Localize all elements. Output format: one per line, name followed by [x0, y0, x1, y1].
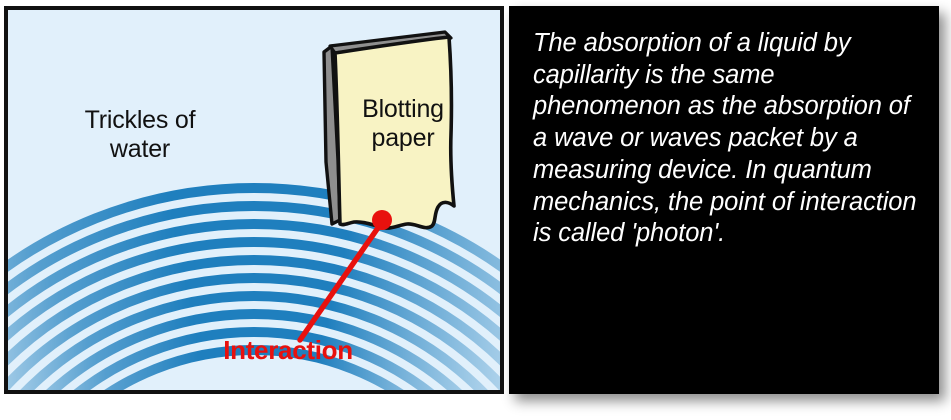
interaction-label: Interaction [193, 335, 383, 365]
figure-root: Trickles of water Blotting paper Interac… [0, 0, 951, 420]
interaction-point-marker [372, 210, 392, 230]
blotting-paper-label: Blotting paper [338, 95, 468, 153]
caption-panel: The absorption of a liquid by capillarit… [509, 6, 939, 394]
caption-text: The absorption of a liquid by capillarit… [533, 28, 917, 250]
illustration-panel: Trickles of water Blotting paper Interac… [4, 6, 504, 394]
illustration-canvas [8, 10, 500, 390]
trickles-of-water-label: Trickles of water [30, 106, 250, 164]
